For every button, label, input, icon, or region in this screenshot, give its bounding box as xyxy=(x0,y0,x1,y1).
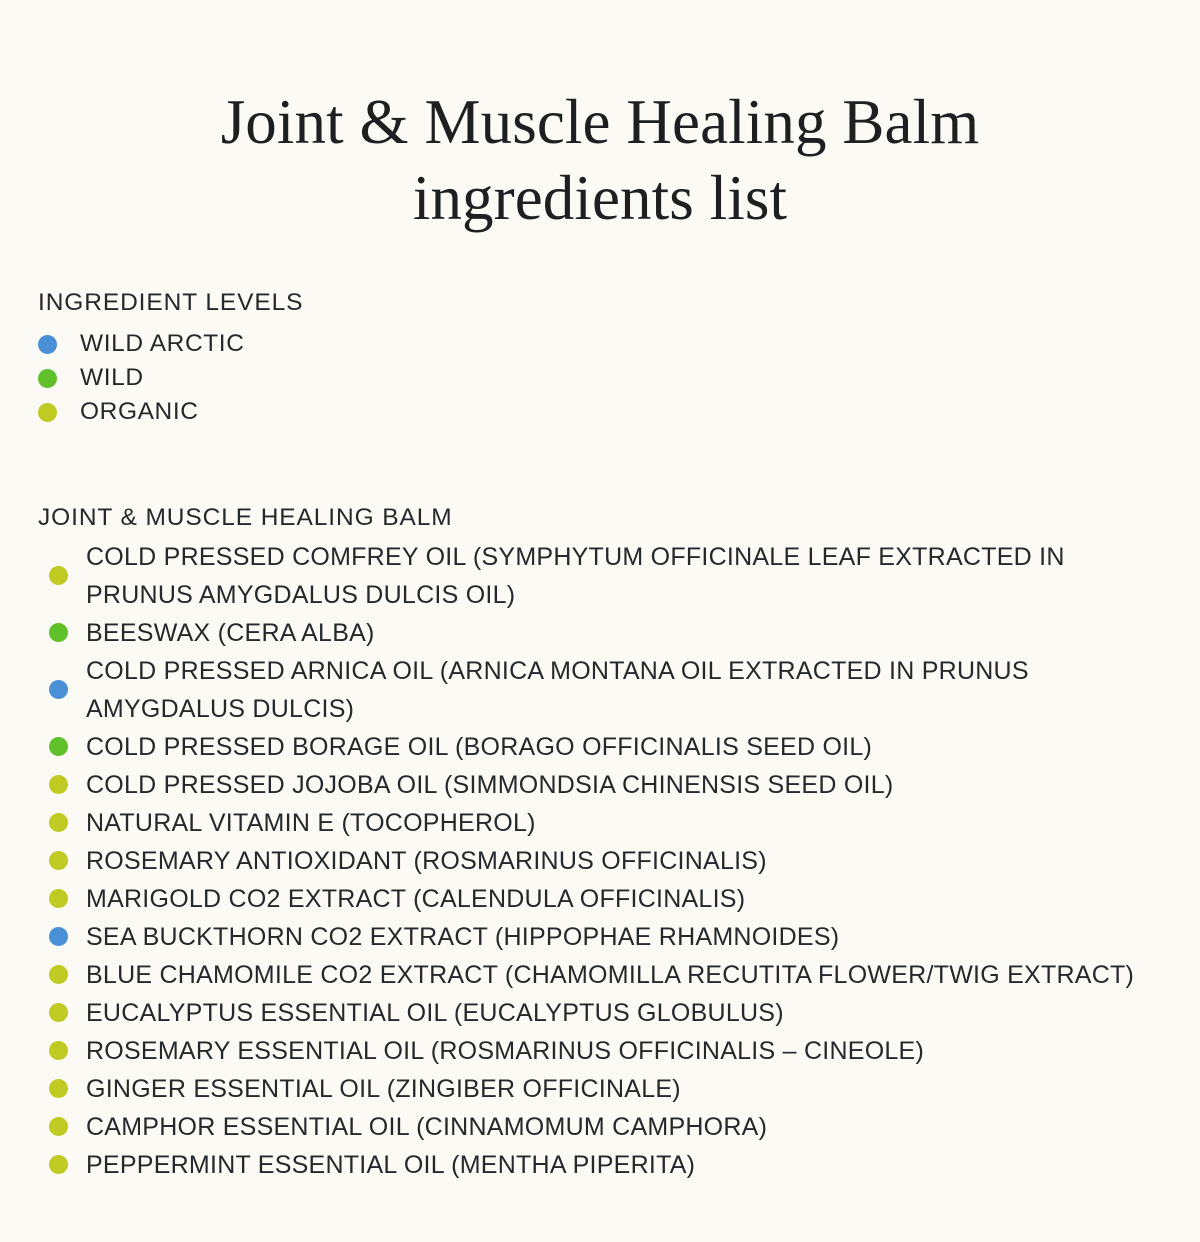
ingredient-list: COLD PRESSED COMFREY OIL (SYMPHYTUM OFFI… xyxy=(38,538,1168,1184)
level-dot-icon xyxy=(38,369,57,388)
level-dot-icon xyxy=(49,965,68,984)
legend-item-label: WILD xyxy=(80,366,144,391)
ingredient-name: NATURAL VITAMIN E (TOCOPHEROL) xyxy=(86,804,1168,842)
level-dot-icon xyxy=(49,1155,68,1174)
ingredient-item: MARIGOLD CO2 EXTRACT (CALENDULA OFFICINA… xyxy=(38,880,1168,918)
level-dot-icon xyxy=(49,1079,68,1098)
legend-item-label: WILD ARCTIC xyxy=(80,332,245,357)
level-dot-icon xyxy=(49,927,68,946)
page-title: Joint & Muscle Healing Balm ingredients … xyxy=(0,42,1200,236)
ingredients-section: JOINT & MUSCLE HEALING BALM COLD PRESSED… xyxy=(38,504,1200,1184)
legend-item-organic: ORGANIC xyxy=(38,396,1200,430)
ingredient-name: COLD PRESSED COMFREY OIL (SYMPHYTUM OFFI… xyxy=(86,538,1168,614)
ingredients-page: Joint & Muscle Healing Balm ingredients … xyxy=(0,42,1200,1242)
level-dot-icon xyxy=(49,1003,68,1022)
ingredient-name: BEESWAX (CERA ALBA) xyxy=(86,614,1168,652)
ingredient-dot-cell xyxy=(38,813,86,832)
level-dot-icon xyxy=(49,566,68,585)
level-dot-icon xyxy=(49,1041,68,1060)
ingredient-name: PEPPERMINT ESSENTIAL OIL (MENTHA PIPERIT… xyxy=(86,1146,1168,1184)
ingredient-item: ROSEMARY ANTIOXIDANT (ROSMARINUS OFFICIN… xyxy=(38,842,1168,880)
ingredient-dot-cell xyxy=(38,965,86,984)
ingredient-dot-cell xyxy=(38,623,86,642)
ingredient-dot-cell xyxy=(38,889,86,908)
ingredient-item: BLUE CHAMOMILE CO2 EXTRACT (CHAMOMILLA R… xyxy=(38,956,1168,994)
legend-dot-cell xyxy=(38,369,80,388)
ingredient-dot-cell xyxy=(38,851,86,870)
legend-list: WILD ARCTICWILDORGANIC xyxy=(38,328,1200,430)
ingredient-item: BEESWAX (CERA ALBA) xyxy=(38,614,1168,652)
ingredient-item: COLD PRESSED BORAGE OIL (BORAGO OFFICINA… xyxy=(38,728,1168,766)
level-dot-icon xyxy=(49,775,68,794)
ingredient-name: BLUE CHAMOMILE CO2 EXTRACT (CHAMOMILLA R… xyxy=(86,956,1168,994)
level-dot-icon xyxy=(49,680,68,699)
ingredient-item: GINGER ESSENTIAL OIL (ZINGIBER OFFICINAL… xyxy=(38,1070,1168,1108)
ingredient-item: COLD PRESSED COMFREY OIL (SYMPHYTUM OFFI… xyxy=(38,538,1168,614)
level-dot-icon xyxy=(49,851,68,870)
level-dot-icon xyxy=(38,335,57,354)
ingredient-name: COLD PRESSED ARNICA OIL (ARNICA MONTANA … xyxy=(86,652,1168,728)
ingredient-dot-cell xyxy=(38,1155,86,1174)
ingredient-name: GINGER ESSENTIAL OIL (ZINGIBER OFFICINAL… xyxy=(86,1070,1168,1108)
section-heading: JOINT & MUSCLE HEALING BALM xyxy=(38,504,1200,532)
ingredient-dot-cell xyxy=(38,1041,86,1060)
ingredient-name: ROSEMARY ANTIOXIDANT (ROSMARINUS OFFICIN… xyxy=(86,842,1168,880)
level-dot-icon xyxy=(49,1117,68,1136)
ingredient-name: ROSEMARY ESSENTIAL OIL (ROSMARINUS OFFIC… xyxy=(86,1032,1168,1070)
ingredient-name: MARIGOLD CO2 EXTRACT (CALENDULA OFFICINA… xyxy=(86,880,1168,918)
ingredient-name: EUCALYPTUS ESSENTIAL OIL (EUCALYPTUS GLO… xyxy=(86,994,1168,1032)
level-dot-icon xyxy=(49,813,68,832)
ingredient-dot-cell xyxy=(38,566,86,585)
ingredient-name: CAMPHOR ESSENTIAL OIL (CINNAMOMUM CAMPHO… xyxy=(86,1108,1168,1146)
level-dot-icon xyxy=(49,623,68,642)
ingredient-dot-cell xyxy=(38,1117,86,1136)
ingredient-name: SEA BUCKTHORN CO2 EXTRACT (HIPPOPHAE RHA… xyxy=(86,918,1168,956)
ingredient-dot-cell xyxy=(38,680,86,699)
legend-item-wild: WILD xyxy=(38,362,1200,396)
level-dot-icon xyxy=(49,737,68,756)
ingredient-item: COLD PRESSED JOJOBA OIL (SIMMONDSIA CHIN… xyxy=(38,766,1168,804)
legend-dot-cell xyxy=(38,335,80,354)
ingredient-item: CAMPHOR ESSENTIAL OIL (CINNAMOMUM CAMPHO… xyxy=(38,1108,1168,1146)
legend: INGREDIENT LEVELS WILD ARCTICWILDORGANIC xyxy=(38,289,1200,430)
ingredient-dot-cell xyxy=(38,737,86,756)
ingredient-item: SEA BUCKTHORN CO2 EXTRACT (HIPPOPHAE RHA… xyxy=(38,918,1168,956)
legend-dot-cell xyxy=(38,403,80,422)
ingredient-dot-cell xyxy=(38,775,86,794)
legend-item-wild-arctic: WILD ARCTIC xyxy=(38,328,1200,362)
ingredient-item: ROSEMARY ESSENTIAL OIL (ROSMARINUS OFFIC… xyxy=(38,1032,1168,1070)
ingredient-name: COLD PRESSED JOJOBA OIL (SIMMONDSIA CHIN… xyxy=(86,766,1168,804)
level-dot-icon xyxy=(49,889,68,908)
legend-item-label: ORGANIC xyxy=(80,400,199,425)
ingredient-dot-cell xyxy=(38,1079,86,1098)
level-dot-icon xyxy=(38,403,57,422)
ingredient-item: PEPPERMINT ESSENTIAL OIL (MENTHA PIPERIT… xyxy=(38,1146,1168,1184)
ingredient-item: COLD PRESSED ARNICA OIL (ARNICA MONTANA … xyxy=(38,652,1168,728)
ingredient-item: EUCALYPTUS ESSENTIAL OIL (EUCALYPTUS GLO… xyxy=(38,994,1168,1032)
ingredient-name: COLD PRESSED BORAGE OIL (BORAGO OFFICINA… xyxy=(86,728,1168,766)
ingredient-dot-cell xyxy=(38,927,86,946)
ingredient-dot-cell xyxy=(38,1003,86,1022)
legend-heading: INGREDIENT LEVELS xyxy=(38,289,1200,317)
ingredient-item: NATURAL VITAMIN E (TOCOPHEROL) xyxy=(38,804,1168,842)
